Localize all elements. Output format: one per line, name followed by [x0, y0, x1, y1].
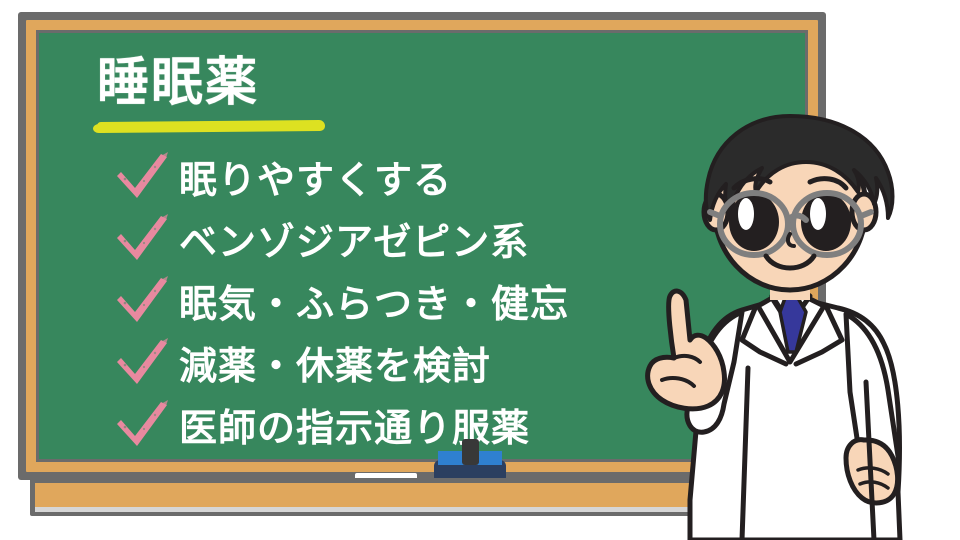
check-icon [111, 334, 173, 390]
list-item: 減薬・休薬を検討 [111, 331, 711, 393]
list-item-label: 減薬・休薬を検討 [179, 335, 491, 390]
list-item: ベンゾジアゼピン系 [111, 207, 711, 269]
list-item: 医師の指示通り服薬 [111, 393, 711, 455]
list-item: 眠りやすくする [111, 145, 711, 207]
list-item-label: ベンゾジアゼピン系 [179, 211, 529, 266]
pointing-hand [648, 291, 725, 409]
check-icon [111, 148, 173, 204]
checklist: 眠りやすくする [111, 145, 711, 455]
list-item-label: 眠りやすくする [179, 149, 452, 204]
check-icon [111, 396, 173, 452]
eraser-knob [462, 439, 479, 465]
check-icon [111, 272, 173, 328]
board-title: 睡眠薬 [97, 55, 259, 112]
list-item: 眠気・ふらつき・健忘 [111, 269, 711, 331]
illustration-canvas: 睡眠薬 [0, 0, 960, 540]
doctor-illustration [630, 100, 960, 540]
list-item-label: 眠気・ふらつき・健忘 [179, 273, 569, 328]
title-underline [97, 120, 325, 133]
check-icon [111, 210, 173, 266]
